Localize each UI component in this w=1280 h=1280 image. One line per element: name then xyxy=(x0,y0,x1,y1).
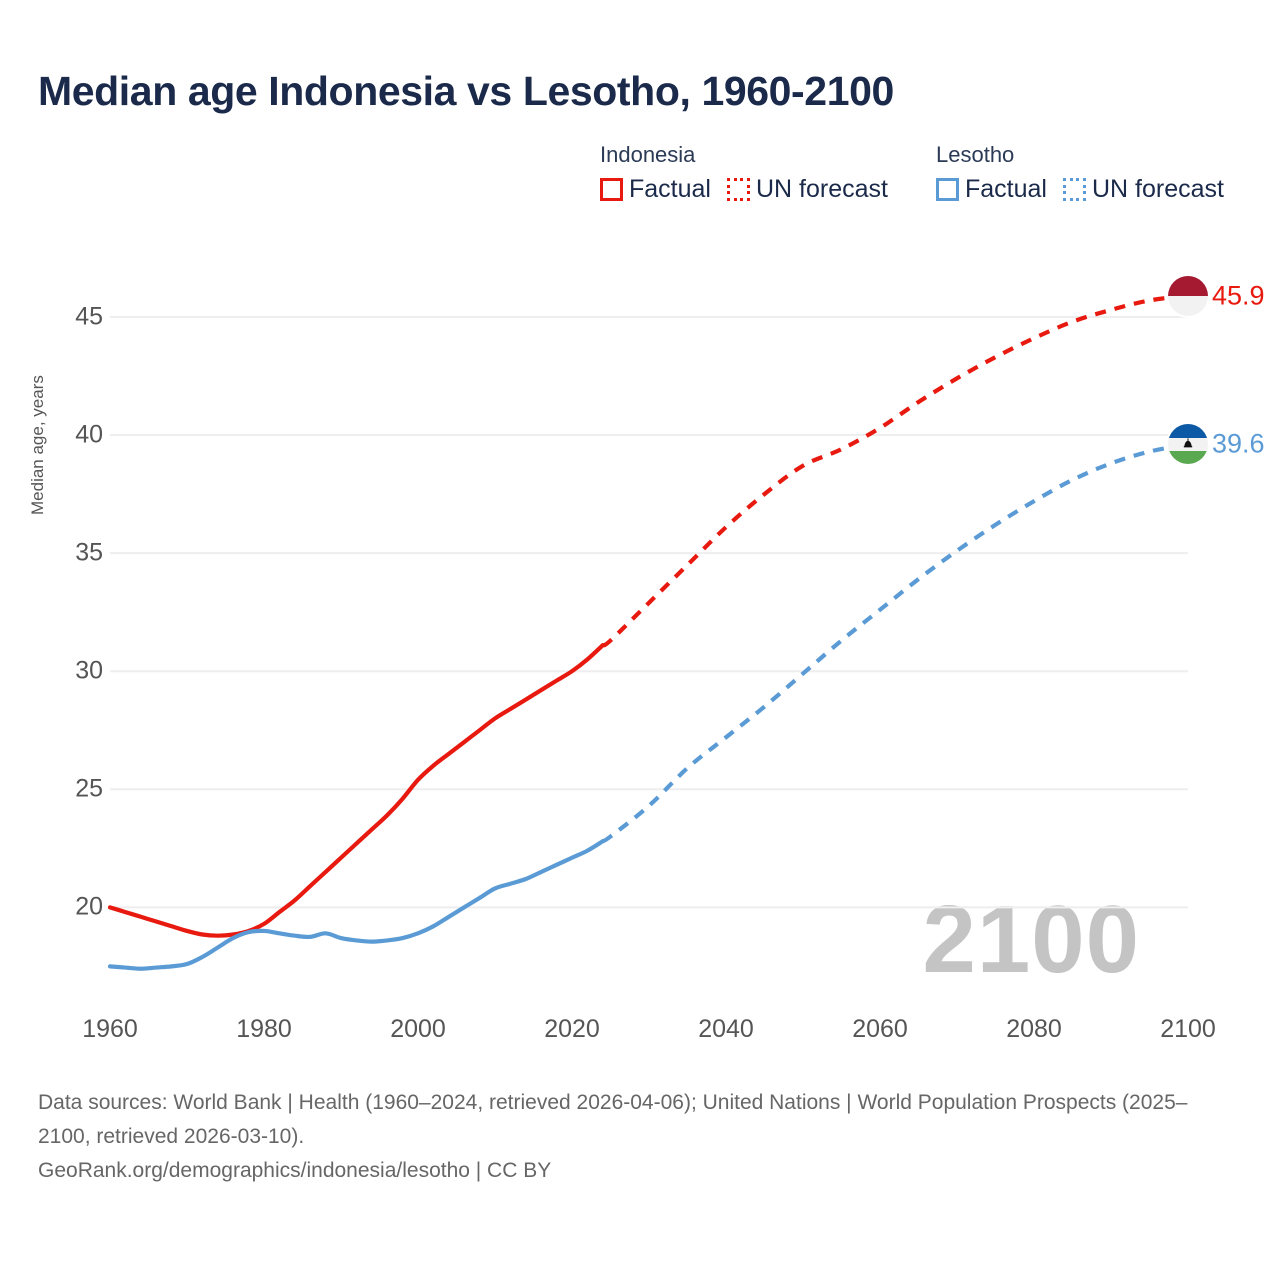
flag-band-red xyxy=(1168,276,1208,296)
endpoint-marker-lesotho-flag-icon xyxy=(1168,424,1208,464)
x-tick-label: 1960 xyxy=(82,1015,138,1044)
x-tick-label: 2000 xyxy=(390,1015,446,1044)
endpoint-value-indonesia: 45.9 xyxy=(1212,280,1265,311)
x-tick-label: 1980 xyxy=(236,1015,292,1044)
y-tick-label: 25 xyxy=(43,775,103,804)
y-tick-label: 35 xyxy=(43,539,103,568)
flag-band-blue xyxy=(1168,424,1208,437)
x-tick-label: 2020 xyxy=(544,1015,600,1044)
footer-line-attribution: GeoRank.org/demographics/indonesia/lesot… xyxy=(38,1154,1218,1188)
x-tick-label: 2060 xyxy=(852,1015,908,1044)
x-tick-label: 2040 xyxy=(698,1015,754,1044)
flag-band-white xyxy=(1168,296,1208,316)
chart-container: Median age Indonesia vs Lesotho, 1960-21… xyxy=(0,0,1280,1280)
flag-band-green xyxy=(1168,451,1208,464)
footer-sources: Data sources: World Bank | Health (1960–… xyxy=(38,1086,1218,1188)
y-tick-label: 40 xyxy=(43,421,103,450)
x-tick-label: 2100 xyxy=(1160,1015,1216,1044)
y-tick-label: 45 xyxy=(43,302,103,331)
endpoint-marker-indonesia-flag-icon xyxy=(1168,276,1208,316)
y-tick-label: 30 xyxy=(43,657,103,686)
mokorotlo-hat-icon xyxy=(1181,437,1195,451)
footer-line-sources: Data sources: World Bank | Health (1960–… xyxy=(38,1086,1218,1154)
x-tick-label: 2080 xyxy=(1006,1015,1062,1044)
y-tick-label: 20 xyxy=(43,893,103,922)
endpoint-value-lesotho: 39.6 xyxy=(1212,429,1265,460)
